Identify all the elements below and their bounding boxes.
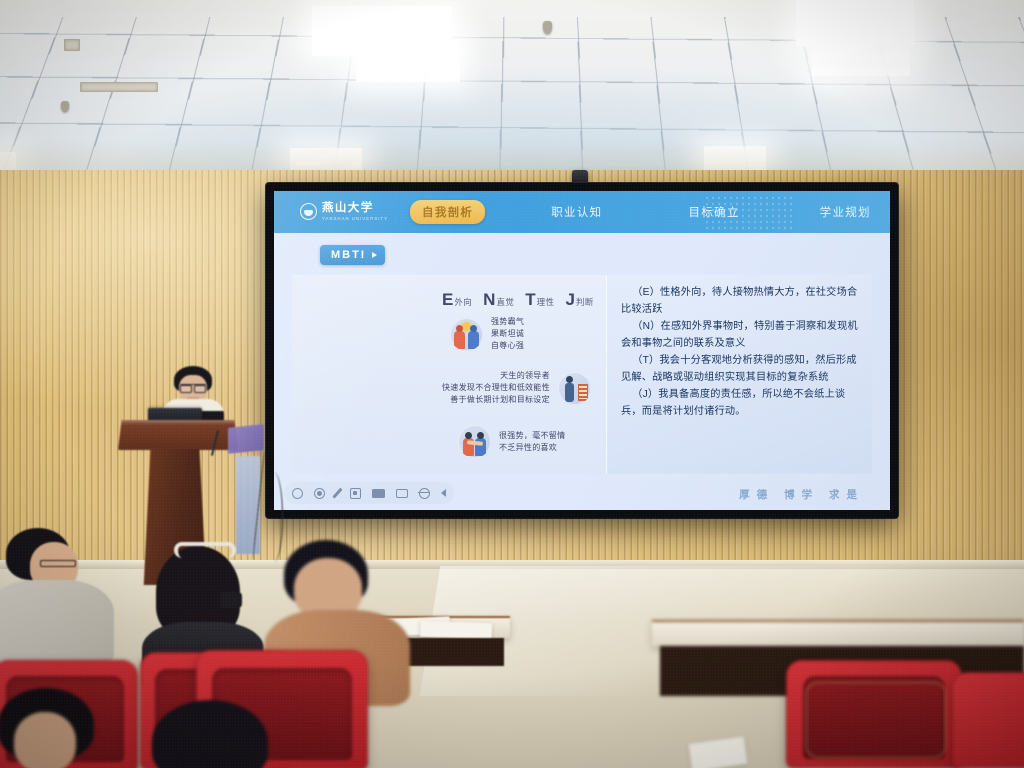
podium-support <box>236 456 260 554</box>
type-letter-j: J <box>565 291 574 308</box>
air-vent <box>80 82 158 92</box>
type-gloss-t: 理性 <box>537 296 555 308</box>
type-letter-e: E <box>442 291 453 308</box>
seal-mark-icon <box>300 203 317 220</box>
globe-icon[interactable] <box>419 488 430 499</box>
type-gloss-e: 外向 <box>454 296 472 308</box>
prev-arrow-icon[interactable] <box>441 489 446 497</box>
tab-self-analysis[interactable]: 自我剖析 <box>410 200 485 224</box>
description-e: （E）性格外向，待人接物热情大方，在社交场合比较活跃 <box>621 285 860 318</box>
trait-row-2: 天生的领导者 快速发现不合理性和低效能性 善于做长期计划和目标设定 <box>442 371 591 405</box>
university-name-en: YANSHAN UNIVERSITY <box>322 217 388 221</box>
university-name-cn: 燕山大学 <box>322 203 388 215</box>
seat-trim <box>806 682 946 758</box>
trait-2-line-2: 快速发现不合理性和低效能性 <box>442 383 550 393</box>
audience-member <box>0 528 110 658</box>
auditorium-seat <box>952 672 1024 768</box>
type-letter-t: T <box>525 291 535 308</box>
recessed-light-icon <box>796 0 914 46</box>
two-people-idea-icon <box>450 318 483 351</box>
trait-row-3: 很强势，毫不留情 不乏异性的喜欢 <box>458 425 565 458</box>
type-letter-n: N <box>483 291 495 308</box>
tab-goal-setting[interactable]: 目标确立 <box>676 200 751 224</box>
slide-body: 陆军元帅/指挥官 E外向 N直觉 T理性 J判断 <box>292 275 872 474</box>
mbti-description-panel: （E）性格外向，待人接物热情大方，在社交场合比较活跃 （N）在感知外界事物时，特… <box>606 275 872 474</box>
pen-icon[interactable] <box>332 488 342 499</box>
slide-tabs: 自我剖析 职业认知 目标确立 学业规划 <box>410 200 890 224</box>
trait-1-line-2: 果断坦诚 <box>491 329 524 339</box>
presentation-slide[interactable]: 燕山大学 YANSHAN UNIVERSITY 自我剖析 职业认知 目标确立 学… <box>274 191 890 510</box>
type-gloss-n: 直觉 <box>496 296 514 308</box>
sprinkler-head-icon <box>61 101 69 112</box>
pen-ring-icon[interactable] <box>292 488 303 499</box>
slide-grid-icon[interactable] <box>372 489 385 498</box>
type-gloss-j: 判断 <box>576 296 594 308</box>
audience-desk <box>652 620 1024 646</box>
frame-icon[interactable] <box>350 488 361 499</box>
mbti-type-code: E外向 N直觉 T理性 J判断 <box>442 291 602 308</box>
lecture-hall-photo: 燕山大学 YANSHAN UNIVERSITY 自我剖析 职业认知 目标确立 学… <box>0 0 1024 768</box>
handshake-icon <box>458 425 491 458</box>
trait-3-lines: 很强势，毫不留情 不乏异性的喜欢 <box>499 431 565 453</box>
recessed-light-icon <box>812 42 910 76</box>
filled-dot-icon[interactable] <box>314 488 325 499</box>
trait-2-lines: 天生的领导者 快速发现不合理性和低效能性 善于做长期计划和目标设定 <box>442 371 550 405</box>
section-badge: MBTI <box>320 245 385 265</box>
slide-nav-bar: 燕山大学 YANSHAN UNIVERSITY 自我剖析 职业认知 目标确立 学… <box>274 191 890 233</box>
podium-monitor <box>228 424 264 454</box>
play-arrow-icon <box>372 252 377 258</box>
trait-1-lines: 强势霸气 果断坦诚 自尊心强 <box>491 317 524 351</box>
trait-3-line-2: 不乏异性的喜欢 <box>499 443 565 453</box>
wall-display[interactable]: 燕山大学 YANSHAN UNIVERSITY 自我剖析 职业认知 目标确立 学… <box>266 183 898 518</box>
trait-1-line-3: 自尊心强 <box>491 341 524 351</box>
recessed-light-icon <box>356 40 460 82</box>
audience-member <box>0 688 126 768</box>
tab-career-awareness[interactable]: 职业认知 <box>539 200 614 224</box>
description-t: （T）我会十分客观地分析获得的感知，然后形成见解、战略或驱动组织实现其目标的复杂… <box>621 353 860 386</box>
mbti-profile-panel: 陆军元帅/指挥官 E外向 N直觉 T理性 J判断 <box>292 275 606 474</box>
university-seal-icon: 燕山大学 YANSHAN UNIVERSITY <box>300 203 388 221</box>
description-n: （N）在感知外界事物时，特别善于洞察和发现机会和事物之间的联系及意义 <box>621 319 860 352</box>
sprinkler-head-icon <box>543 21 552 34</box>
trait-1-line-1: 强势霸气 <box>491 317 524 327</box>
air-vent <box>64 39 80 51</box>
audience-member <box>146 700 292 768</box>
presentation-toolbar[interactable] <box>284 482 454 504</box>
description-j: （J）我具备高度的责任感，所以绝不会纸上谈兵，而是将计划付诸行动。 <box>621 387 860 420</box>
ceiling <box>0 0 1024 196</box>
leader-presenting-icon <box>558 372 591 405</box>
note-icon[interactable] <box>396 489 408 498</box>
handout-paper <box>420 621 493 640</box>
trait-3-line-1: 很强势，毫不留情 <box>499 431 565 441</box>
university-motto: 厚德 博学 求是 <box>739 487 864 502</box>
trait-2-line-3: 善于做长期计划和目标设定 <box>450 395 550 405</box>
section-badge-label: MBTI <box>331 249 366 261</box>
trait-2-line-1: 天生的领导者 <box>500 371 550 381</box>
trait-row-1: 强势霸气 果断坦诚 自尊心强 <box>450 317 524 351</box>
laptop-icon <box>148 408 202 422</box>
tab-academic-plan[interactable]: 学业规划 <box>808 200 883 224</box>
